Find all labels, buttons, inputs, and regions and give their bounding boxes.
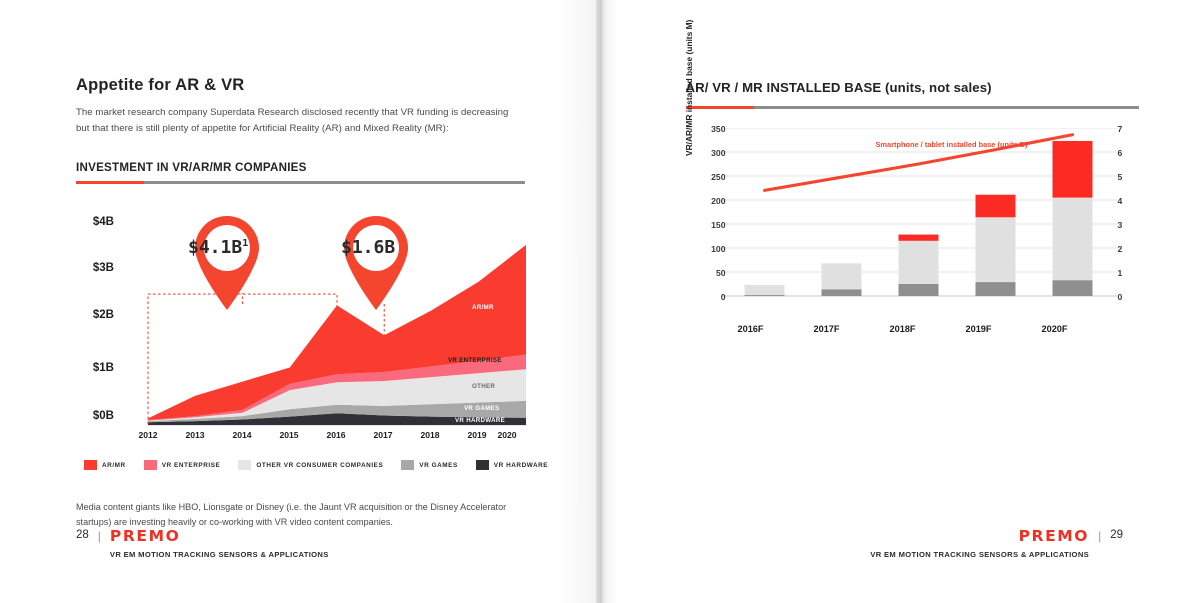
y-tick-250: 250 [700, 172, 726, 182]
x-tick-2019: 2019 [460, 430, 494, 440]
title-rule [76, 181, 525, 184]
bar-2020f-ar-mr-m- [1052, 141, 1092, 198]
investment-chart-legend: AR/MR VR ENTERPRISE OTHER VR CONSUMER CO… [84, 460, 557, 470]
y-tick-3b: $3B [76, 262, 114, 274]
bar-2016f-console-pc-vr-m- [744, 295, 784, 296]
x-tick-2020: 2020 [490, 430, 524, 440]
media-note-paragraph: Media content giants like HBO, Lionsgate… [76, 500, 526, 529]
x-tick-2018: 2018 [413, 430, 447, 440]
footer-divider-left: | [98, 529, 101, 543]
page-title: Appetite for AR & VR [76, 76, 244, 95]
series-tag-other: OTHER [472, 383, 495, 390]
bar-2019f-console-pc-vr-m- [975, 282, 1015, 296]
y-tick-0: 0 [700, 292, 726, 302]
page-right: AR/ VR / MR INSTALLED BASE (units, not s… [600, 0, 1199, 603]
legend-item-vr-hardware: VR HARDWARE [476, 460, 548, 470]
installed-base-chart-title: AR/ VR / MR INSTALLED BASE (units, not s… [686, 80, 992, 95]
y2-tick-7: 7 [1118, 124, 1134, 134]
bar-2017f-mobile-vr-m- [821, 263, 861, 289]
bar-2019f-mobile-vr-m- [975, 217, 1015, 282]
x-tick-2020f: 2020F [1026, 324, 1084, 334]
x-tick-2014: 2014 [225, 430, 259, 440]
y2-tick-6: 6 [1118, 148, 1134, 158]
legend-item-vr-enterprise: VR ENTERPRISE [144, 460, 221, 470]
legend-label-vr-hardware: VR HARDWARE [494, 462, 548, 469]
legend-label-vr-enterprise: VR ENTERPRISE [162, 462, 221, 469]
legend-label-vr-games: VR GAMES [419, 462, 458, 469]
footer-divider-right: | [1098, 529, 1101, 543]
intro-paragraph: The market research company Superdata Re… [76, 105, 524, 136]
brand-subtitle-left: VR EM MOTION TRACKING SENSORS & APPLICAT… [110, 550, 329, 559]
series-tag-vr-games: VR GAMES [464, 405, 499, 412]
x-tick-2016f: 2016F [722, 324, 780, 334]
y-tick-0b: $0B [76, 410, 114, 422]
bar-2020f-mobile-vr-m- [1052, 198, 1092, 281]
y2-tick-0: 0 [1118, 292, 1134, 302]
x-tick-2016: 2016 [319, 430, 353, 440]
y2-tick-2: 2 [1118, 244, 1134, 254]
page-number-left: 28 [76, 529, 89, 541]
investment-area-chart: $4B $3B $2B $1B $0B 2012 2013 2014 2015 … [76, 198, 526, 446]
legend-swatch-armr [84, 460, 97, 470]
callout-pin-2-label: $1.6B [341, 237, 395, 258]
bar-2020f-console-pc-vr-m- [1052, 280, 1092, 296]
legend-label-other: OTHER VR CONSUMER COMPANIES [256, 462, 383, 469]
x-tick-2017: 2017 [366, 430, 400, 440]
y-tick-200: 200 [700, 196, 726, 206]
title-rule-right [686, 106, 1139, 109]
series-tag-vr-hardware: VR HARDWARE [455, 417, 505, 424]
brand-logo-right: PREMO [870, 529, 1089, 545]
y-tick-50: 50 [700, 268, 726, 278]
legend-item-armr: AR/MR [84, 460, 126, 470]
bar-2018f-ar-mr-m- [898, 235, 938, 241]
y-tick-350: 350 [700, 124, 726, 134]
bar-2016f-mobile-vr-m- [744, 285, 784, 295]
callout-pin-2 [331, 206, 421, 311]
legend-swatch-vr-hardware [476, 460, 489, 470]
x-tick-2018f: 2018F [874, 324, 932, 334]
legend-swatch-other [238, 460, 251, 470]
trend-line-label: Smartphone / tablet installed base (unit… [876, 140, 1028, 149]
y2-tick-3: 3 [1118, 220, 1134, 230]
investment-chart-title: INVESTMENT IN VR/AR/MR COMPANIES [76, 161, 307, 174]
page-number-right: 29 [1110, 529, 1123, 541]
footer-right: PREMO VR EM MOTION TRACKING SENSORS & AP… [870, 529, 1123, 589]
footer-left: 28 | PREMO VR EM MOTION TRACKING SENSORS… [76, 529, 329, 589]
y-tick-300: 300 [700, 148, 726, 158]
series-tag-vr-enterprise: VR ENTERPRISE [448, 357, 502, 364]
area-chart-svg [76, 198, 526, 446]
y-tick-2b: $2B [76, 309, 114, 321]
installed-base-chart: VR/AR/MR installed base (units M) Smartp… [686, 128, 1141, 338]
book-spread: Appetite for AR & VR The market research… [0, 0, 1199, 603]
x-tick-2019f: 2019F [950, 324, 1008, 334]
bar-2018f-console-pc-vr-m- [898, 284, 938, 296]
bar-chart-svg [686, 128, 1141, 338]
bar-2017f-console-pc-vr-m- [821, 289, 861, 296]
bar-2018f-mobile-vr-m- [898, 241, 938, 284]
legend-swatch-vr-games [401, 460, 414, 470]
callout-pin-1-label: $4.1B1 [188, 237, 248, 258]
x-tick-2012: 2012 [131, 430, 165, 440]
brand-subtitle-right: VR EM MOTION TRACKING SENSORS & APPLICAT… [870, 550, 1089, 559]
y-tick-100: 100 [700, 244, 726, 254]
legend-item-vr-games: VR GAMES [401, 460, 458, 470]
y2-tick-5: 5 [1118, 172, 1134, 182]
callout-pin-1 [182, 206, 272, 311]
legend-swatch-vr-enterprise [144, 460, 157, 470]
y2-tick-1: 1 [1118, 268, 1134, 278]
legend-item-other: OTHER VR CONSUMER COMPANIES [238, 460, 383, 470]
y2-tick-4: 4 [1118, 196, 1134, 206]
brand-logo-left: PREMO [110, 529, 329, 545]
y-tick-4b: $4B [76, 216, 114, 228]
x-tick-2015: 2015 [272, 430, 306, 440]
legend-label-armr: AR/MR [102, 462, 126, 469]
x-tick-2017f: 2017F [798, 324, 856, 334]
y-tick-150: 150 [700, 220, 726, 230]
x-tick-2013: 2013 [178, 430, 212, 440]
page-left: Appetite for AR & VR The market research… [0, 0, 600, 603]
y-tick-1b: $1B [76, 362, 114, 374]
series-tag-armr: AR/MR [472, 304, 494, 311]
bar-2019f-ar-mr-m- [975, 195, 1015, 218]
